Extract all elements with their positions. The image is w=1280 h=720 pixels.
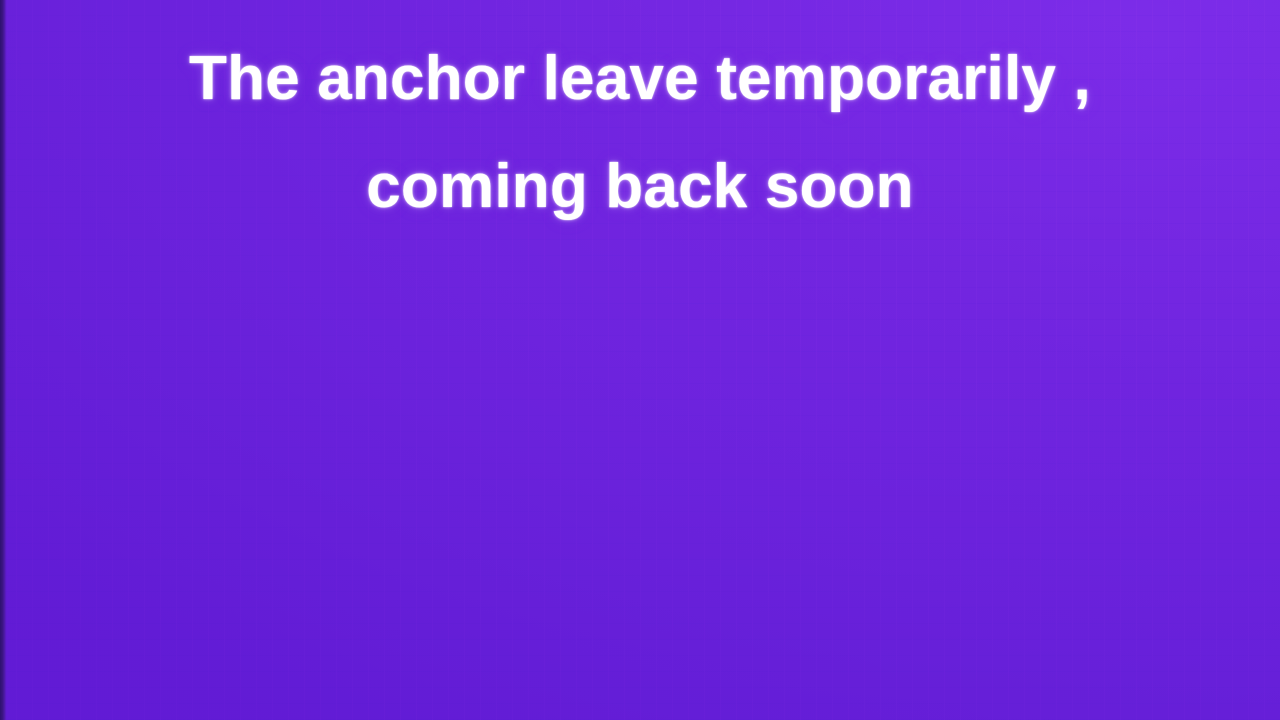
- caption-line-1: The anchor leave temporarily ,: [0, 22, 1280, 136]
- background-gradient-overlay: [0, 0, 1280, 720]
- left-edge-dark-strip: [0, 0, 7, 720]
- compression-noise-overlay: [0, 0, 1280, 720]
- caption-block: The anchor leave temporarily , coming ba…: [0, 0, 1280, 244]
- caption-line-2: coming back soon: [0, 130, 1280, 244]
- video-frame: The anchor leave temporarily , coming ba…: [0, 0, 1280, 720]
